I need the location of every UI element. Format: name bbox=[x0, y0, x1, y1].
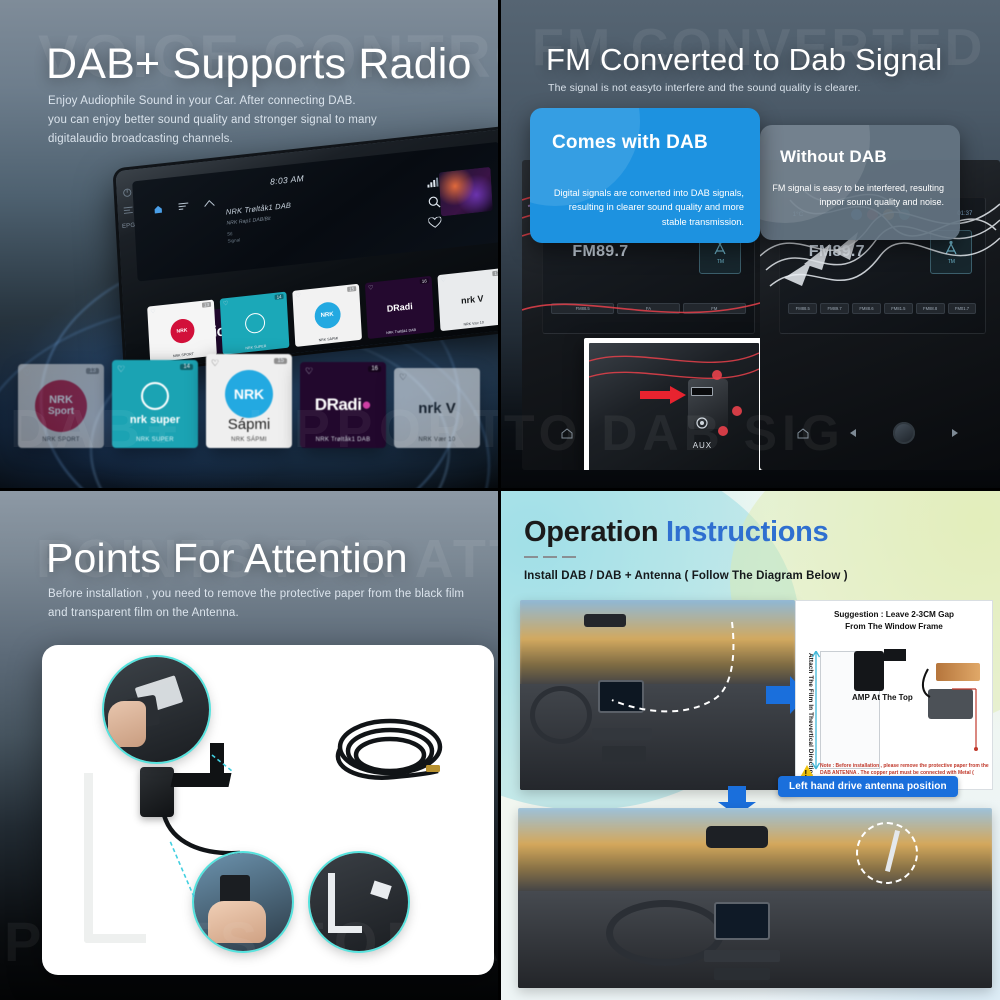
tile-logo bbox=[244, 312, 265, 334]
tile-number: 14 bbox=[274, 294, 283, 300]
station-card[interactable]: ♡ 13 NRKSport NRK SPORT bbox=[18, 364, 104, 448]
page-title: Points For Attention bbox=[46, 535, 408, 582]
antenna-icon bbox=[943, 240, 959, 256]
station-card[interactable]: ♡ 14 nrk super NRK SUPER bbox=[112, 360, 198, 448]
callout-circle-attach-window bbox=[194, 853, 292, 951]
card-caption: NRK Trøltåk1 DAB bbox=[300, 437, 386, 443]
page-subtitle: Before installation , you need to remove… bbox=[48, 585, 468, 623]
aux-photo: AUX bbox=[589, 343, 759, 470]
antenna-product-photo-card bbox=[42, 645, 494, 975]
signal-icon bbox=[426, 177, 438, 188]
card-caption: NRK SÁPMI bbox=[206, 437, 292, 443]
preset-button[interactable]: FM01.7 bbox=[948, 303, 977, 314]
heart-icon[interactable]: ♡ bbox=[150, 308, 156, 316]
callout-circle-film-on-glass bbox=[310, 853, 408, 951]
home-icon bbox=[797, 428, 809, 439]
sma-connector bbox=[426, 765, 440, 772]
tile-caption: NRK Vær 10 bbox=[440, 318, 500, 329]
card-caption: NRK Vær 10 bbox=[394, 437, 480, 443]
page-subtitle: Enjoy Audiophile Sound in your Car. Afte… bbox=[48, 92, 448, 149]
heart-icon[interactable]: ♡ bbox=[368, 284, 374, 292]
list-icon bbox=[178, 202, 188, 211]
now-playing-info: NRK Trøltåk1 DAB NRK Rap1 DAB/Bit Stl Si… bbox=[226, 201, 293, 244]
heart-icon[interactable]: ♡ bbox=[223, 300, 229, 308]
heart-icon[interactable]: ♡ bbox=[295, 292, 301, 300]
tm-label: TM bbox=[948, 259, 955, 265]
panel-divider-vertical bbox=[498, 0, 501, 1000]
home-icon bbox=[153, 204, 162, 214]
antenna-black-film-stub bbox=[210, 743, 224, 785]
antenna-amp-body bbox=[140, 767, 174, 817]
preset-row[interactable]: FM88.5 FA FM bbox=[551, 303, 745, 314]
heart-icon bbox=[428, 216, 442, 228]
wifi-icon bbox=[440, 142, 451, 146]
preset-button[interactable]: FM89.7 bbox=[820, 303, 849, 314]
diagram-film-stub bbox=[884, 649, 906, 661]
volume-knob[interactable] bbox=[893, 422, 915, 444]
station-card[interactable]: ♡ nrk V NRK Vær 10 bbox=[394, 368, 480, 448]
preset-button[interactable]: FM88.5 bbox=[788, 303, 817, 314]
diagram-amp-block bbox=[854, 651, 884, 691]
panel-points-for-attention: POINTS FOR ATTENTION Points For Attentio… bbox=[0, 490, 500, 1000]
heart-icon[interactable]: ♡ bbox=[441, 276, 447, 284]
card-heading: Without DAB bbox=[780, 147, 887, 167]
rear-view-mirror bbox=[706, 826, 768, 848]
page-subtitle: The signal is not easyto interfere and t… bbox=[548, 80, 968, 97]
page-title: DAB+ Supports Radio bbox=[46, 40, 472, 89]
center-screen bbox=[714, 902, 770, 940]
car-interior-photo-bottom bbox=[518, 808, 992, 988]
panel-fm-converted-to-dab: FM CONVERTED TO DAB FM Converted to Dab … bbox=[500, 0, 1000, 490]
card-body: Digital signals are converted into DAB s… bbox=[546, 186, 744, 229]
panel-dab-supports-radio: VOICE CONTROL DAB+ Supports Radio Enjoy … bbox=[0, 0, 500, 490]
diagram-amp-label: AMP At The Top bbox=[852, 693, 913, 702]
album-art bbox=[439, 167, 493, 217]
location-icon bbox=[457, 142, 464, 145]
preset-button[interactable]: FM88.8 bbox=[916, 303, 945, 314]
tile-dradio[interactable]: ♡ 16 DRadi NRK Trøltåk1 DAB bbox=[365, 276, 435, 339]
card-logo: NRK Sápmi bbox=[206, 354, 292, 448]
installation-diagram: Suggestion : Leave 2-3CM Gap From The Wi… bbox=[795, 600, 993, 790]
page-title: FM Converted to Dab Signal bbox=[546, 42, 942, 78]
page-title-part2: Instructions bbox=[666, 516, 828, 548]
music-notes-overlay bbox=[589, 343, 759, 470]
preset-button[interactable]: FM88.5 bbox=[551, 303, 614, 314]
tile-logo: nrk V bbox=[461, 293, 484, 305]
card-logo: nrk V bbox=[394, 368, 480, 448]
next-icon bbox=[951, 428, 963, 438]
card-heading: Comes with DAB bbox=[552, 132, 708, 154]
station-card[interactable]: ♡ 15 NRK Sápmi NRK SÁPMI bbox=[206, 354, 292, 448]
page-subtitle: Install DAB / DAB + Antenna ( Follow The… bbox=[524, 570, 848, 582]
callout-circle-peel-paper bbox=[104, 657, 209, 762]
diagram-cable-path bbox=[918, 667, 988, 767]
infographic-sheet: VOICE CONTROL DAB+ Supports Radio Enjoy … bbox=[0, 0, 1000, 1000]
radio-frequency: FM89.7 bbox=[572, 243, 628, 261]
tile-logo: NRK bbox=[314, 301, 341, 330]
car-head-unit-photo: 8:03 AM NRK Trøltåk1 DAB NRK Rap1 DAB/Bi… bbox=[116, 129, 500, 372]
transparent-film-antenna bbox=[84, 773, 146, 943]
card-logo: NRKSport bbox=[18, 364, 104, 448]
station-card-band: ♡ 13 NRKSport NRK SPORT ♡ 14 nrk super N… bbox=[0, 340, 500, 448]
car-interior-photo-top bbox=[520, 600, 795, 790]
dashed-route-line bbox=[520, 600, 795, 790]
radio-frequency: FM89.7 bbox=[809, 243, 865, 261]
tile-logo: DRadi bbox=[387, 301, 413, 314]
preset-button[interactable]: FM81.5 bbox=[884, 303, 913, 314]
page-title-part1: Operation bbox=[524, 516, 658, 548]
station-card[interactable]: ♡ 16 DRadi● NRK Trøltåk1 DAB bbox=[300, 362, 386, 448]
antenna-position-highlight bbox=[856, 822, 918, 884]
tile-number: 16 bbox=[420, 278, 429, 284]
head-unit-top-icons bbox=[153, 199, 214, 215]
card-caption: NRK SPORT bbox=[18, 437, 104, 443]
epg-label: EPG bbox=[122, 223, 136, 230]
tile-caption: NRK Trøltåk1 DAB bbox=[368, 326, 435, 337]
dashboard-hard-buttons[interactable] bbox=[779, 418, 981, 448]
preset-button[interactable]: FA bbox=[617, 303, 680, 314]
preset-row[interactable]: FM88.5 FM89.7 FM88.6 FM81.5 FM88.8 FM01.… bbox=[788, 303, 976, 314]
preset-button[interactable]: FM88.6 bbox=[852, 303, 881, 314]
page-title: Operation Instructions bbox=[524, 516, 828, 549]
card-logo: nrk super bbox=[112, 360, 198, 448]
status-bar bbox=[440, 142, 493, 146]
tile-number: 13 bbox=[202, 302, 211, 308]
power-icon bbox=[122, 188, 131, 198]
title-underline-dashes bbox=[524, 556, 576, 558]
head-unit-clock: 8:03 AM bbox=[270, 173, 304, 187]
head-unit-screen: 8:03 AM NRK Trøltåk1 DAB NRK Rap1 DAB/Bi… bbox=[132, 142, 500, 282]
preset-button[interactable]: FM bbox=[683, 303, 746, 314]
antenna-position-label: Left hand drive antenna position bbox=[778, 776, 958, 797]
card-comes-with-dab: Comes with DAB Digital signals are conve… bbox=[530, 108, 760, 243]
tile-nrk-sapmi[interactable]: ♡ 15 NRK NRK SÁPMI bbox=[292, 284, 362, 347]
search-icon bbox=[428, 196, 441, 209]
card-logo: DRadi● bbox=[300, 362, 386, 448]
diagram-direction-arrow bbox=[812, 651, 820, 771]
diagram-suggestion-text: Suggestion : Leave 2-3CM Gap From The Wi… bbox=[796, 609, 992, 633]
head-unit-left-rail[interactable]: EPG bbox=[119, 187, 137, 230]
bluetooth-icon bbox=[470, 142, 476, 143]
panel-operation-instructions: Operation Instructions Install DAB / DAB… bbox=[500, 490, 1000, 1000]
home-icon bbox=[561, 428, 573, 439]
previous-icon bbox=[845, 428, 857, 438]
card-without-dab: Without DAB FM signal is easy to be inte… bbox=[760, 125, 960, 240]
tile-number: 15 bbox=[347, 286, 356, 292]
coaxial-cable-coil bbox=[334, 715, 446, 795]
tm-label: TM bbox=[717, 259, 724, 265]
card-body: FM signal is easy to be interfered, resu… bbox=[772, 182, 944, 210]
share-icon bbox=[204, 199, 214, 208]
card-caption: NRK SUPER bbox=[112, 437, 198, 443]
tile-nrk-v[interactable]: ♡ 17 nrk V NRK Vær 10 bbox=[437, 268, 500, 331]
aux-port-inset-photo: AUX bbox=[584, 338, 764, 470]
playlist-icon bbox=[123, 206, 132, 215]
